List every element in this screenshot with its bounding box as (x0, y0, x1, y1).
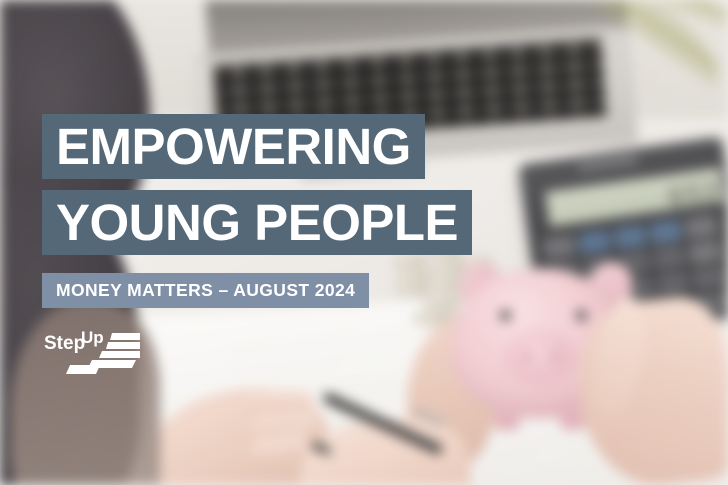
headline-line-2: YOUNG PEOPLE (56, 197, 458, 248)
headline-bar-line-2: YOUNG PEOPLE (42, 190, 472, 255)
logo-wordmark-step: Step (44, 333, 85, 354)
headline-bar-line-1: EMPOWERING (42, 114, 425, 179)
stepup-logo-icon: Step Up (44, 327, 164, 375)
logo-wordmark-up: Up (81, 328, 104, 347)
subtitle-text: MONEY MATTERS – AUGUST 2024 (56, 282, 355, 300)
stepup-logo[interactable]: Step Up (44, 327, 164, 375)
subtitle-bar: MONEY MATTERS – AUGUST 2024 (42, 273, 369, 308)
headline-line-1: EMPOWERING (56, 121, 411, 172)
newsletter-banner: 652 (0, 0, 728, 485)
text-overlay: EMPOWERING YOUNG PEOPLE MONEY MATTERS – … (0, 0, 728, 485)
